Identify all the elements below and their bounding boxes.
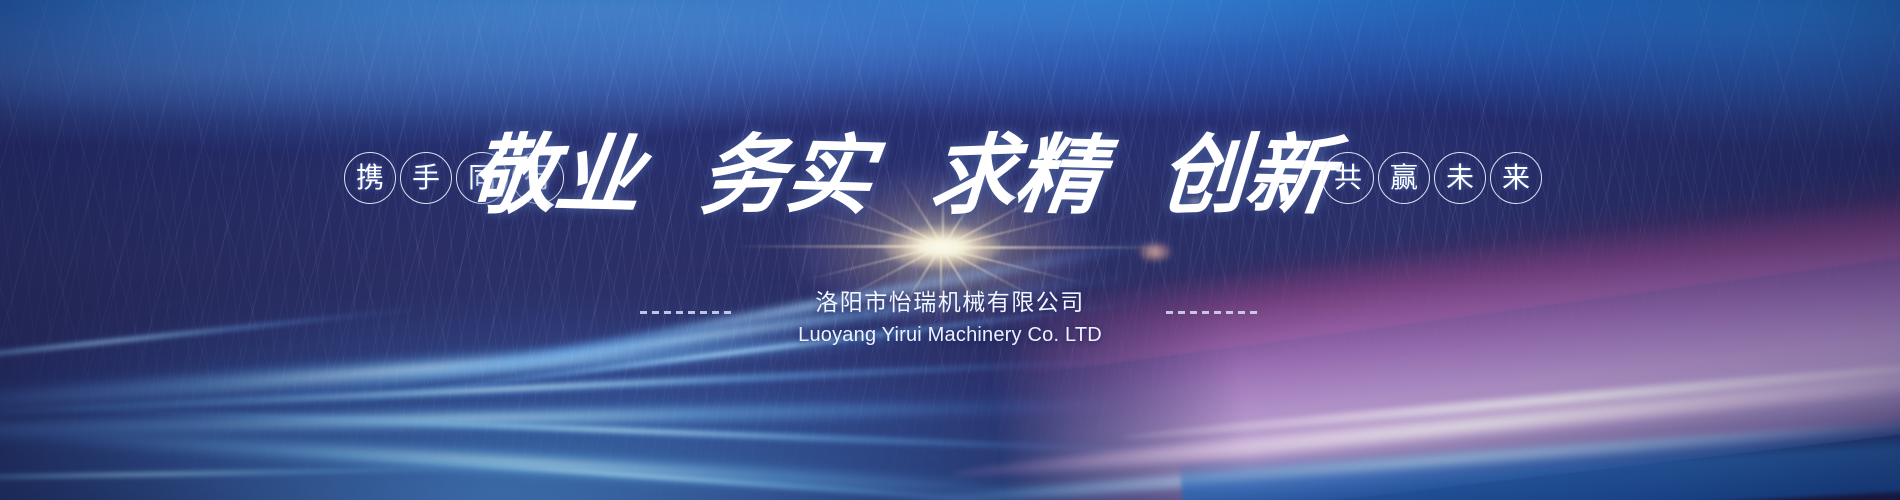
calligraphy-char-qiu: 求	[928, 132, 1017, 221]
calligraphy-char-jing2: 精	[1010, 132, 1105, 220]
calligraphy-char-jing: 敬	[468, 132, 557, 221]
circled-slogan-right: 共 赢 未 来	[1322, 152, 1542, 204]
circled-char-xie: 携	[344, 152, 396, 204]
calligraphy-group-jingye: 敬 业	[470, 133, 640, 219]
circled-char-gong: 共	[1322, 152, 1374, 204]
calligraphy-group-qiujing: 求 精	[930, 133, 1100, 219]
company-name-english: Luoyang Yirui Machinery Co. LTD	[798, 321, 1102, 350]
circled-char-ying: 赢	[1378, 152, 1430, 204]
company-name-chinese: 洛阳市怡瑞机械有限公司	[815, 288, 1085, 319]
calligraphy-char-wu: 务	[698, 132, 787, 221]
banner-content: 携 手 同 行 敬 业 务 实 求 精 创 新 共 赢	[0, 0, 1900, 500]
calligraphy-char-chuang: 创	[1158, 132, 1247, 221]
calligraphy-group-chuangxin: 创 新	[1160, 133, 1330, 219]
circled-char-shou: 手	[400, 152, 452, 204]
circled-char-wei: 未	[1434, 152, 1486, 204]
calligraphy-char-shi: 实	[780, 132, 875, 220]
circled-char-lai: 来	[1490, 152, 1542, 204]
calligraphy-group-wushi: 务 实	[700, 133, 870, 219]
calligraphy-char-ye: 业	[550, 132, 645, 220]
calligraphy-slogan: 敬 业 务 实 求 精 创 新	[470, 122, 1330, 230]
company-name-block: 洛阳市怡瑞机械有限公司 Luoyang Yirui Machinery Co. …	[0, 288, 1900, 350]
company-culture-banner: 携 手 同 行 敬 业 务 实 求 精 创 新 共 赢	[0, 0, 1900, 500]
